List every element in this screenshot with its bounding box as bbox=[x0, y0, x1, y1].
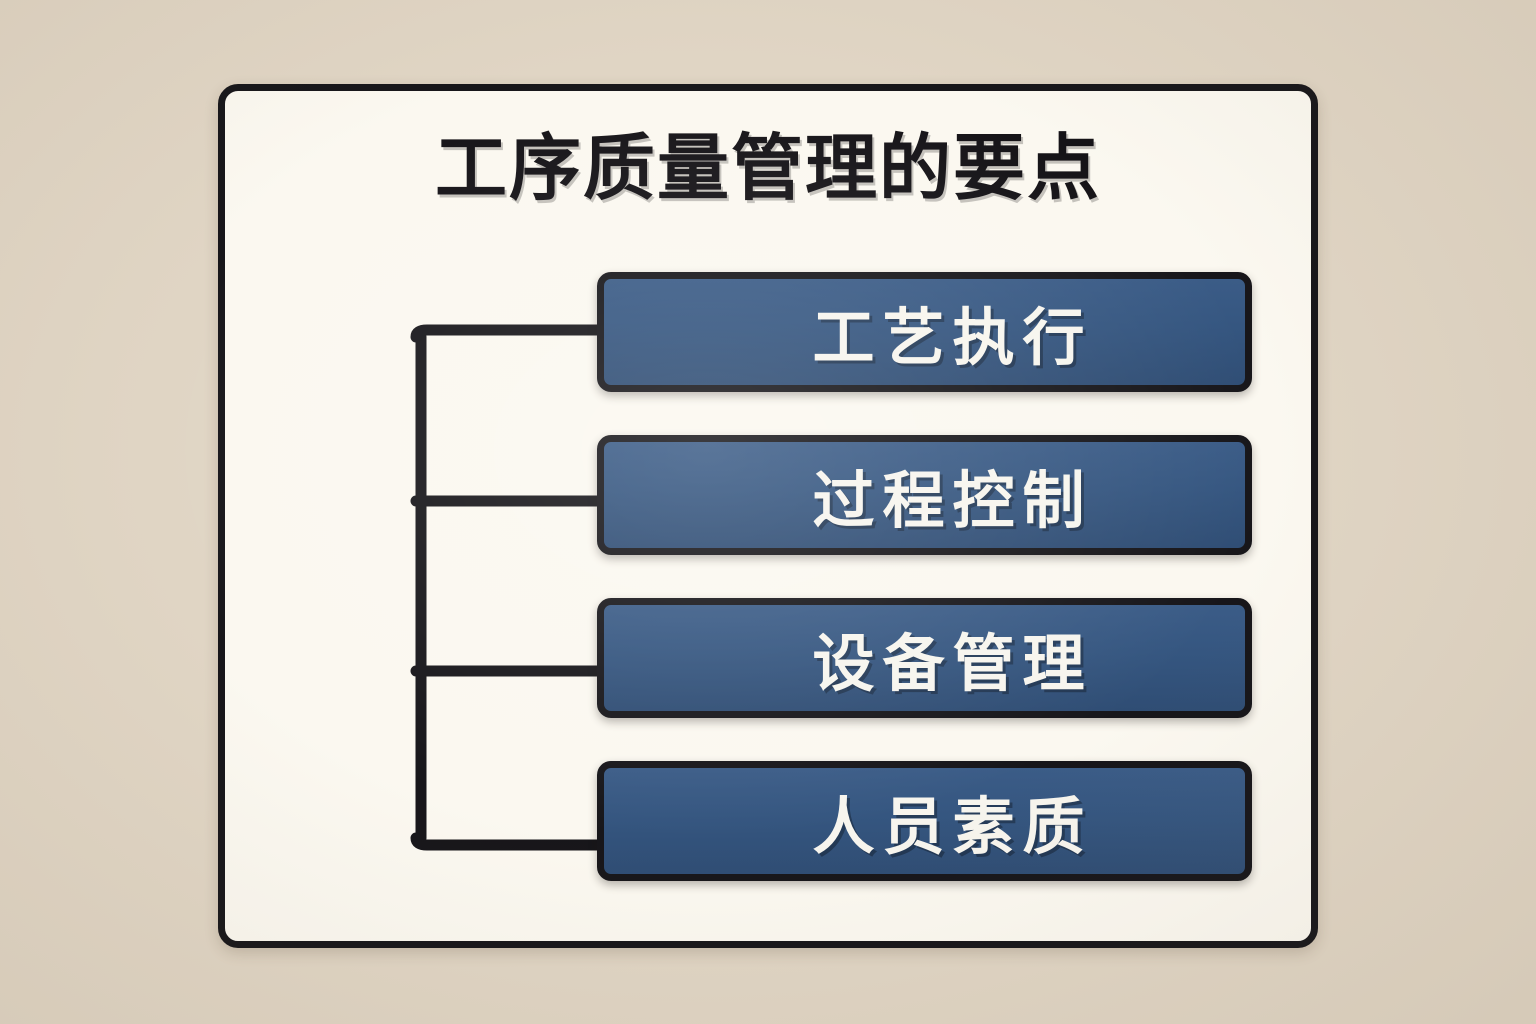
item-box-2[interactable]: 过程控制 bbox=[597, 435, 1252, 555]
diagram-title: 工序质量管理的要点 bbox=[225, 133, 1311, 205]
item-box-1[interactable]: 工艺执行 bbox=[597, 272, 1252, 392]
diagram-frame: 工序质量管理的要点 工艺执行 过程控制 设备管理 人员素质 bbox=[218, 84, 1318, 948]
item-box-1-label: 工艺执行 bbox=[812, 287, 1092, 377]
bracket-branch-1 bbox=[416, 330, 607, 337]
bracket-branch-4 bbox=[416, 838, 607, 845]
item-box-2-label: 过程控制 bbox=[812, 450, 1092, 540]
item-box-3[interactable]: 设备管理 bbox=[597, 598, 1252, 718]
diagram-canvas: 工序质量管理的要点 工艺执行 过程控制 设备管理 人员素质 bbox=[0, 0, 1536, 1024]
item-box-4[interactable]: 人员素质 bbox=[597, 761, 1252, 881]
item-box-4-label: 人员素质 bbox=[812, 776, 1092, 866]
item-box-list: 工艺执行 过程控制 设备管理 人员素质 bbox=[597, 272, 1252, 881]
item-box-3-label: 设备管理 bbox=[812, 613, 1092, 703]
